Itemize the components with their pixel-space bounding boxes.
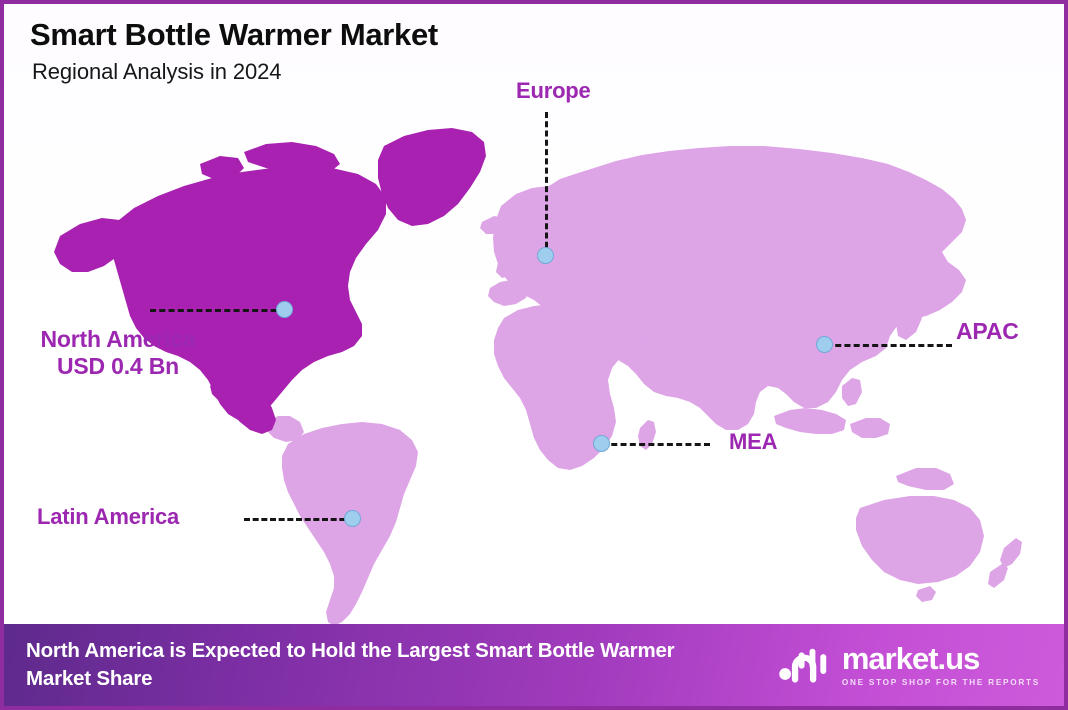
region-west-europe [488,280,528,306]
region-north-america [110,166,386,420]
region-indonesia-2 [850,418,890,438]
map-marker-apac[interactable] [816,336,833,353]
connector-latin-america [244,518,354,521]
region-greenland [378,128,486,226]
region-label-apac: APAC [956,318,1019,345]
brand-logo[interactable]: market.us ONE STOP SHOP FOR THE REPORTS [777,643,1040,687]
region-southeast-asia [774,408,846,434]
page-subtitle: Regional Analysis in 2024 [32,59,438,85]
map-marker-europe[interactable] [537,247,554,264]
logo-tagline: ONE STOP SHOP FOR THE REPORTS [842,678,1040,687]
footer-statement: North America is Expected to Hold the La… [26,637,726,693]
infographic-root: Smart Bottle Warmer Market Regional Anal… [0,0,1068,710]
region-australia [856,496,984,584]
region-label-latin-america: Latin America [37,504,179,530]
logo-wordmark: market.us [842,643,979,674]
region-new-guinea [896,468,954,490]
region-new-zealand-2 [988,564,1008,588]
region-label-north-america: North America USD 0.4 Bn [20,326,216,380]
logo-text-block: market.us ONE STOP SHOP FOR THE REPORTS [842,643,1040,687]
region-new-zealand [1000,538,1022,568]
region-philippines [842,378,862,406]
connector-europe [545,112,548,257]
map-regions-highlighted [54,128,486,434]
connector-mea [602,443,710,446]
map-marker-latin-america[interactable] [344,510,361,527]
connector-north-america [150,309,286,312]
region-canada-arctic [244,142,340,174]
header: Smart Bottle Warmer Market Regional Anal… [30,18,438,85]
connector-apac [826,344,952,347]
region-label-europe: Europe [516,78,591,104]
bar-chart-logo-icon [777,643,833,687]
map-marker-mea[interactable] [593,435,610,452]
region-tasmania [916,586,936,602]
page-title: Smart Bottle Warmer Market [30,18,438,53]
footer-banner: North America is Expected to Hold the La… [4,624,1064,706]
map-marker-north-america[interactable] [276,301,293,318]
region-label-mea: MEA [729,429,777,455]
